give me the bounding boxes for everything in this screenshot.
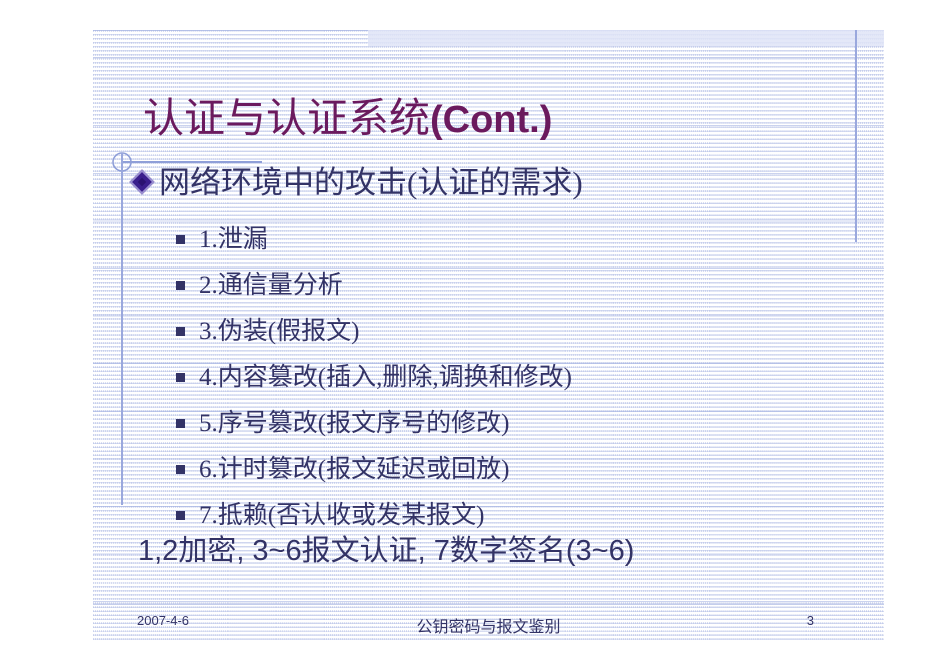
level2-bullet-list: 1.泄漏 2.通信量分析 3.伪装(假报文) 4.内容篡改(插入,删除,调换和修… xyxy=(176,216,876,538)
level2-bullet-text: 4.内容篡改(插入,删除,调换和修改) xyxy=(199,365,572,390)
square-bullet-icon xyxy=(176,281,185,290)
slide-footer: 2007-4-6 公钥密码与报文鉴别 3 xyxy=(93,610,884,634)
square-bullet-icon xyxy=(176,327,185,336)
square-bullet-icon xyxy=(176,419,185,428)
level2-bullet-text: 7.抵赖(否认收或发某报文) xyxy=(199,503,484,528)
level1-bullet-text: 网络环境中的攻击(认证的需求) xyxy=(159,167,583,198)
footer-rule xyxy=(93,604,884,605)
square-bullet-icon xyxy=(176,465,185,474)
summary-line: 1,2加密, 3~6报文认证, 7数字签名(3~6) xyxy=(138,537,634,566)
list-item: 3.伪装(假报文) xyxy=(176,308,876,354)
list-item: 2.通信量分析 xyxy=(176,262,876,308)
square-bullet-icon xyxy=(176,235,185,244)
list-item: 4.内容篡改(插入,删除,调换和修改) xyxy=(176,354,876,400)
footer-page-number: 3 xyxy=(807,613,814,628)
level1-bullet-row: 网络环境中的攻击(认证的需求) xyxy=(133,167,583,198)
slide-body: 网络环境中的攻击(认证的需求) 1.泄漏 2.通信量分析 3.伪装(假报文) 4… xyxy=(0,0,950,672)
level2-bullet-text: 6.计时篡改(报文延迟或回放) xyxy=(199,457,509,482)
list-item: 6.计时篡改(报文延迟或回放) xyxy=(176,446,876,492)
square-bullet-icon xyxy=(176,511,185,520)
list-item: 5.序号篡改(报文序号的修改) xyxy=(176,400,876,446)
square-bullet-icon xyxy=(176,373,185,382)
footer-center-text: 公钥密码与报文鉴别 xyxy=(93,613,884,637)
level2-bullet-text: 1.泄漏 xyxy=(199,227,268,252)
list-item: 1.泄漏 xyxy=(176,216,876,262)
list-item: 7.抵赖(否认收或发某报文) xyxy=(176,492,876,538)
level2-bullet-text: 3.伪装(假报文) xyxy=(199,319,359,344)
level2-bullet-text: 5.序号篡改(报文序号的修改) xyxy=(199,411,509,436)
slide-canvas: 认证与认证系统(Cont.) 网络环境中的攻击(认证的需求) 1.泄漏 2.通信… xyxy=(0,0,950,672)
diamond-bullet-icon xyxy=(129,169,154,194)
level2-bullet-text: 2.通信量分析 xyxy=(199,273,343,298)
